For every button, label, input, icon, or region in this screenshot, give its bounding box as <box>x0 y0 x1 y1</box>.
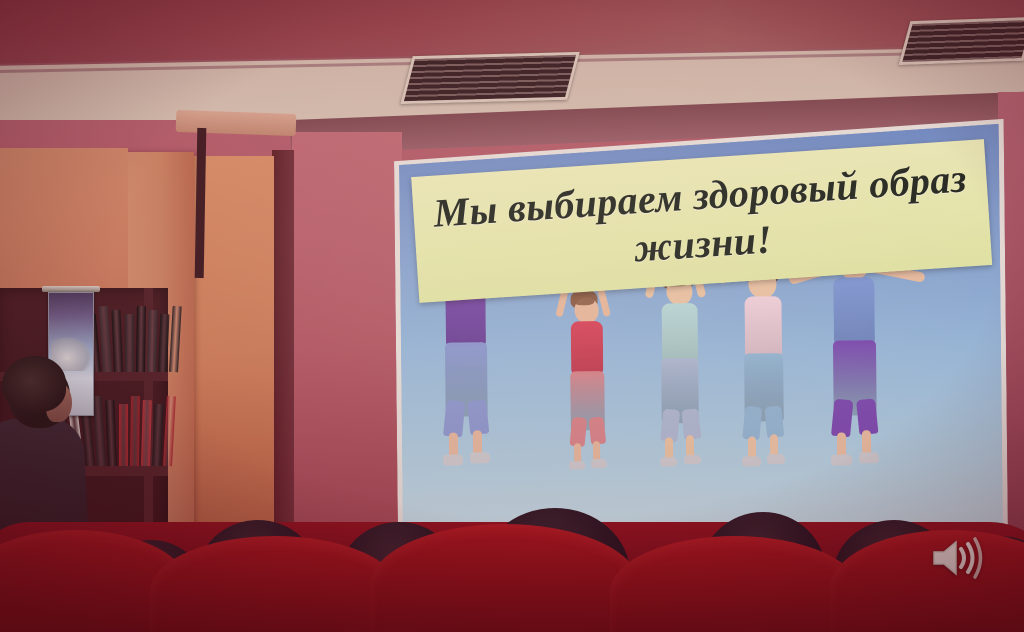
binder <box>141 400 152 466</box>
child-shoe <box>684 455 702 465</box>
binder <box>158 314 169 372</box>
child-shoe <box>742 456 760 466</box>
speaker-volume-icon[interactable] <box>928 534 984 582</box>
child-top <box>662 303 698 361</box>
jumping-child <box>559 291 617 484</box>
child-top <box>834 277 875 345</box>
child-top <box>571 321 604 374</box>
binder <box>99 306 112 372</box>
binder <box>136 306 146 372</box>
child-shoe <box>831 455 852 466</box>
slide-title-line-2: жизни! <box>633 214 774 273</box>
binder <box>119 404 128 466</box>
child-shoe <box>859 452 880 463</box>
child-shoe <box>569 461 585 470</box>
child-pant-leg <box>742 406 763 441</box>
ceiling-beam <box>176 110 297 136</box>
child-shoe <box>660 457 678 467</box>
ceiling-vent-left-icon <box>400 52 580 104</box>
photo-scene: Мы выбираем здоровый образ жизни! <box>0 0 1024 632</box>
binder <box>105 400 117 466</box>
jumping-child <box>731 261 798 482</box>
projection-screen: Мы выбираем здоровый образ жизни! <box>390 109 1013 585</box>
binder <box>92 396 106 466</box>
ceiling-vent-right-icon <box>898 17 1024 65</box>
binder <box>130 396 140 466</box>
binder <box>152 404 164 466</box>
presentation-slide: Мы выбираем здоровый образ жизни! <box>390 109 1013 585</box>
child-shoe <box>443 454 463 465</box>
binder <box>147 310 158 372</box>
binder <box>111 310 123 372</box>
child-shoe <box>767 454 785 464</box>
binder <box>125 314 134 372</box>
jumping-child <box>649 270 713 482</box>
child-shoe <box>591 459 607 468</box>
child-pant-leg <box>831 399 854 437</box>
child-top <box>744 296 781 357</box>
child-shoe <box>470 452 490 463</box>
presenter-hair <box>2 356 66 412</box>
child-hair-fringe <box>572 294 595 305</box>
